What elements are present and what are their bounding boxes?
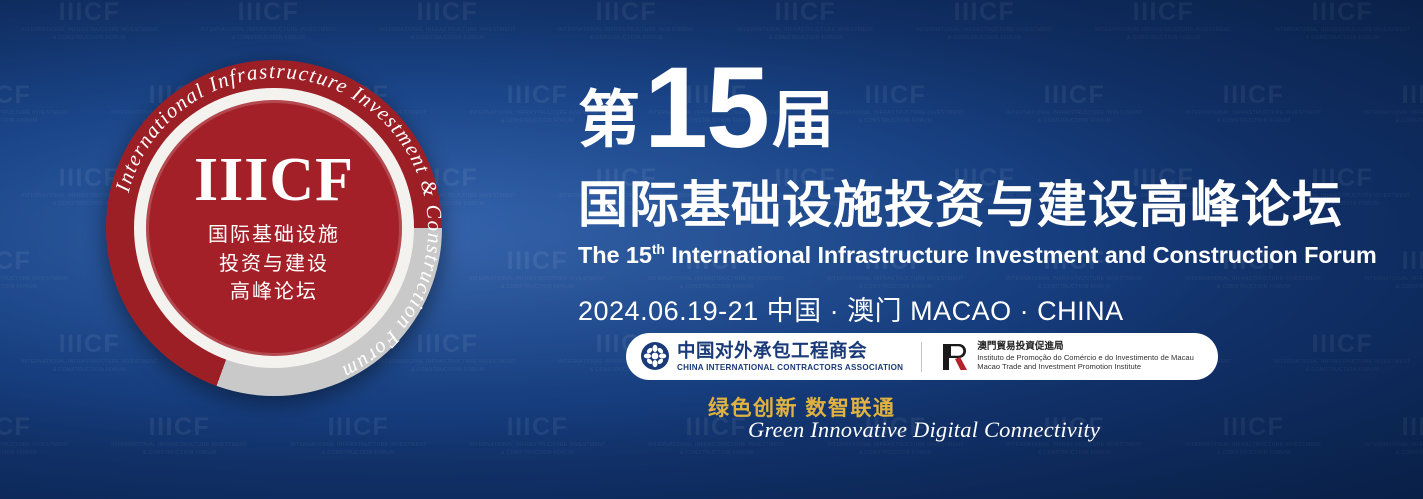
watermark-tile: IIICFINTERNATIONAL INFRASTRUCTURE INVEST… (269, 415, 448, 456)
watermark-tile: IIICFINTERNATIONAL INFRASTRUCTURE INVEST… (1164, 415, 1343, 456)
watermark-acronym: IIICF (358, 0, 537, 25)
watermark-tile: IIICFINTERNATIONAL INFRASTRUCTURE INVEST… (1343, 83, 1423, 124)
event-banner: IIICFINTERNATIONAL INFRASTRUCTURE INVEST… (0, 0, 1423, 499)
watermark-subtitle-line-2: & CONSTRUCTION FORUM (358, 36, 537, 41)
watermark-tile: IIICFINTERNATIONAL INFRASTRUCTURE INVEST… (358, 0, 537, 41)
emblem-cn-line-3: 高峰论坛 (230, 278, 318, 306)
watermark-subtitle-line-1: INTERNATIONAL INFRASTRUCTURE INVESTMENT (269, 443, 448, 448)
watermark-subtitle-line-2: & CONSTRUCTION FORUM (0, 119, 90, 124)
title-english-rest: International Infrastructure Investment … (665, 242, 1377, 268)
logo-divider (921, 342, 922, 372)
watermark-tile: IIICFINTERNATIONAL INFRASTRUCTURE INVEST… (0, 83, 90, 124)
watermark-row: IIICFINTERNATIONAL INFRASTRUCTURE INVEST… (0, 415, 1423, 498)
watermark-subtitle-line-1: INTERNATIONAL INFRASTRUCTURE INVESTMENT (179, 28, 358, 33)
headline-block: 第 15 届 国际基础设施投资与建设高峰论坛 The 15th Internat… (578, 56, 1278, 328)
watermark-acronym: IIICF (1074, 0, 1253, 25)
watermark-subtitle-line-2: & CONSTRUCTION FORUM (985, 451, 1164, 456)
watermark-acronym: IIICF (269, 415, 448, 440)
watermark-tile: IIICFINTERNATIONAL INFRASTRUCTURE INVEST… (179, 0, 358, 41)
watermark-subtitle-line-1: INTERNATIONAL INFRASTRUCTURE INVESTMENT (1343, 443, 1423, 448)
watermark-subtitle-line-1: INTERNATIONAL INFRASTRUCTURE INVESTMENT (1164, 443, 1343, 448)
watermark-acronym: IIICF (90, 415, 269, 440)
ipim-logo-unit: 澳門貿易投資促進局 Instituto de Promoção do Comér… (940, 341, 1194, 373)
watermark-tile: IIICFINTERNATIONAL INFRASTRUCTURE INVEST… (0, 0, 179, 41)
watermark-acronym: IIICF (0, 0, 179, 25)
watermark-subtitle-line-2: & CONSTRUCTION FORUM (90, 451, 269, 456)
watermark-subtitle-line-2: & CONSTRUCTION FORUM (448, 451, 627, 456)
watermark-tile: IIICFINTERNATIONAL INFRASTRUCTURE INVEST… (0, 415, 90, 456)
watermark-subtitle-line-2: & CONSTRUCTION FORUM (0, 285, 90, 290)
watermark-subtitle-line-1: INTERNATIONAL INFRASTRUCTURE INVESTMENT (0, 443, 90, 448)
watermark-subtitle-line-1: INTERNATIONAL INFRASTRUCTURE INVESTMENT (0, 28, 179, 33)
watermark-acronym: IIICF (895, 0, 1074, 25)
organizer-logo-bar: 中国对外承包工程商会 CHINA INTERNATIONAL CONTRACTO… (626, 333, 1218, 380)
ipim-logo-icon (940, 341, 970, 373)
chinca-name-cn: 中国对外承包工程商会 (677, 341, 903, 360)
watermark-subtitle-line-1: INTERNATIONAL INFRASTRUCTURE INVESTMENT (716, 28, 895, 33)
chinca-name-en: CHINA INTERNATIONAL CONTRACTORS ASSOCIAT… (677, 363, 903, 372)
edition-line: 第 15 届 (578, 56, 1278, 168)
watermark-acronym: IIICF (0, 249, 90, 274)
title-english: The 15th International Infrastructure In… (578, 241, 1278, 269)
watermark-subtitle-line-1: INTERNATIONAL INFRASTRUCTURE INVESTMENT (1074, 28, 1253, 33)
chinca-logo-icon (640, 341, 670, 371)
watermark-subtitle-line-2: & CONSTRUCTION FORUM (1164, 451, 1343, 456)
watermark-subtitle-line-1: INTERNATIONAL INFRASTRUCTURE INVESTMENT (0, 111, 90, 116)
watermark-subtitle-line-1: INTERNATIONAL INFRASTRUCTURE INVESTMENT (806, 443, 985, 448)
watermark-subtitle-line-1: INTERNATIONAL INFRASTRUCTURE INVESTMENT (0, 277, 90, 282)
watermark-acronym: IIICF (716, 0, 895, 25)
watermark-subtitle-line-1: INTERNATIONAL INFRASTRUCTURE INVESTMENT (537, 28, 716, 33)
watermark-tile: IIICFINTERNATIONAL INFRASTRUCTURE INVEST… (1343, 415, 1423, 456)
watermark-subtitle-line-2: & CONSTRUCTION FORUM (1343, 119, 1423, 124)
watermark-tile: IIICFINTERNATIONAL INFRASTRUCTURE INVEST… (0, 249, 90, 290)
watermark-subtitle-line-2: & CONSTRUCTION FORUM (1343, 451, 1423, 456)
title-english-prefix: The 15 (578, 242, 652, 268)
watermark-subtitle-line-2: & CONSTRUCTION FORUM (895, 36, 1074, 41)
edition-suffix: 届 (772, 90, 834, 152)
date-location: 2024.06.19-21 中国 · 澳门 MACAO · CHINA (578, 289, 1278, 328)
watermark-acronym: IIICF (0, 83, 90, 108)
watermark-tile: IIICFINTERNATIONAL INFRASTRUCTURE INVEST… (90, 415, 269, 456)
watermark-acronym: IIICF (179, 0, 358, 25)
watermark-acronym: IIICF (537, 0, 716, 25)
watermark-subtitle-line-2: & CONSTRUCTION FORUM (806, 451, 985, 456)
watermark-acronym: IIICF (1253, 332, 1423, 357)
title-english-ordinal: th (652, 241, 665, 257)
watermark-subtitle-line-2: & CONSTRUCTION FORUM (716, 36, 895, 41)
watermark-subtitle-line-1: INTERNATIONAL INFRASTRUCTURE INVESTMENT (448, 443, 627, 448)
emblem-core: IIICF 国际基础设施 投资与建设 高峰论坛 (146, 100, 402, 356)
watermark-subtitle-line-1: INTERNATIONAL INFRASTRUCTURE INVESTMENT (358, 28, 537, 33)
watermark-subtitle-line-2: & CONSTRUCTION FORUM (1253, 36, 1423, 41)
ipim-name-pt: Instituto de Promoção do Comércio e do I… (977, 353, 1194, 362)
watermark-tile: IIICFINTERNATIONAL INFRASTRUCTURE INVEST… (537, 0, 716, 41)
watermark-subtitle-line-2: & CONSTRUCTION FORUM (1343, 285, 1423, 290)
watermark-subtitle-line-2: & CONSTRUCTION FORUM (179, 36, 358, 41)
emblem-acronym: IIICF (194, 149, 354, 211)
watermark-subtitle-line-1: INTERNATIONAL INFRASTRUCTURE INVESTMENT (1343, 111, 1423, 116)
watermark-tile: IIICFINTERNATIONAL INFRASTRUCTURE INVEST… (1253, 0, 1423, 41)
watermark-acronym: IIICF (0, 415, 90, 440)
watermark-subtitle-line-2: & CONSTRUCTION FORUM (0, 451, 90, 456)
watermark-subtitle-line-2: & CONSTRUCTION FORUM (627, 451, 806, 456)
watermark-tile: IIICFINTERNATIONAL INFRASTRUCTURE INVEST… (1253, 332, 1423, 373)
watermark-subtitle-line-1: INTERNATIONAL INFRASTRUCTURE INVESTMENT (1343, 277, 1423, 282)
watermark-subtitle-line-2: & CONSTRUCTION FORUM (1074, 36, 1253, 41)
ipim-name-en: Macao Trade and Investment Promotion Ins… (977, 362, 1194, 371)
watermark-acronym: IIICF (1343, 83, 1423, 108)
watermark-subtitle-line-1: INTERNATIONAL INFRASTRUCTURE INVESTMENT (1253, 360, 1423, 365)
watermark-tile: IIICFINTERNATIONAL INFRASTRUCTURE INVEST… (448, 415, 627, 456)
watermark-tile: IIICFINTERNATIONAL INFRASTRUCTURE INVEST… (895, 0, 1074, 41)
ipim-name-cn: 澳門貿易投資促進局 (977, 341, 1194, 353)
edition-prefix: 第 (578, 90, 640, 152)
watermark-tile: IIICFINTERNATIONAL INFRASTRUCTURE INVEST… (1074, 0, 1253, 41)
watermark-acronym: IIICF (448, 415, 627, 440)
watermark-subtitle-line-1: INTERNATIONAL INFRASTRUCTURE INVESTMENT (895, 28, 1074, 33)
watermark-acronym: IIICF (1343, 415, 1423, 440)
watermark-subtitle-line-2: & CONSTRUCTION FORUM (0, 36, 179, 41)
emblem-cn-line-2: 投资与建设 (219, 250, 329, 278)
forum-emblem: International Infrastructure Investment … (96, 50, 456, 410)
watermark-acronym: IIICF (1164, 415, 1343, 440)
watermark-subtitle-line-2: & CONSTRUCTION FORUM (269, 451, 448, 456)
title-chinese: 国际基础设施投资与建设高峰论坛 (578, 178, 1278, 233)
watermark-subtitle-line-2: & CONSTRUCTION FORUM (1253, 368, 1423, 373)
watermark-subtitle-line-1: INTERNATIONAL INFRASTRUCTURE INVESTMENT (627, 443, 806, 448)
chinca-logo-unit: 中国对外承包工程商会 CHINA INTERNATIONAL CONTRACTO… (640, 341, 903, 371)
slogan-english: Green Innovative Digital Connectivity (748, 417, 1100, 443)
watermark-subtitle-line-1: INTERNATIONAL INFRASTRUCTURE INVESTMENT (1253, 28, 1423, 33)
edition-number: 15 (644, 56, 768, 162)
watermark-subtitle-line-1: INTERNATIONAL INFRASTRUCTURE INVESTMENT (985, 443, 1164, 448)
emblem-cn-line-1: 国际基础设施 (208, 221, 340, 249)
watermark-subtitle-line-1: INTERNATIONAL INFRASTRUCTURE INVESTMENT (90, 443, 269, 448)
watermark-acronym: IIICF (1253, 0, 1423, 25)
watermark-subtitle-line-2: & CONSTRUCTION FORUM (537, 36, 716, 41)
watermark-tile: IIICFINTERNATIONAL INFRASTRUCTURE INVEST… (716, 0, 895, 41)
